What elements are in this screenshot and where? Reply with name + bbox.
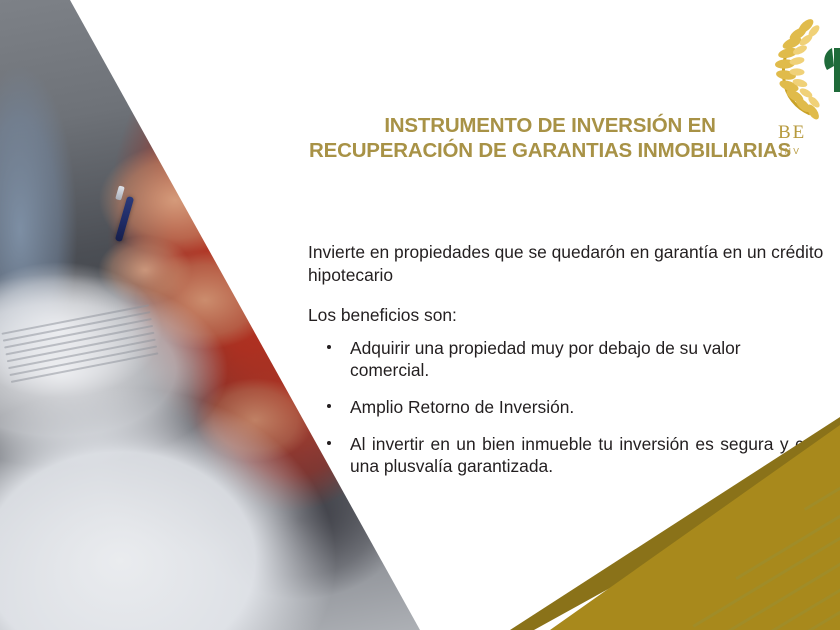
body-paragraph-1: Invierte en propiedades que se quedarón … — [308, 241, 824, 286]
list-item-label: Al invertir en un bien inmueble tu inver… — [350, 434, 823, 477]
list-item-label: Amplio Retorno de Inversión. — [350, 397, 574, 417]
decoration-stripe — [547, 605, 840, 630]
logo-tagline: INV — [780, 146, 801, 156]
slide-title: INSTRUMENTO DE INVERSIÓN EN RECUPERACIÓN… — [290, 113, 810, 163]
list-item: Amplio Retorno de Inversión. — [323, 396, 823, 419]
list-item: Adquirir una propiedad muy por debajo de… — [323, 337, 823, 382]
laurel-wreath-icon — [770, 14, 840, 122]
body-paragraph-2: Los beneficios son: — [308, 304, 824, 327]
title-line-2: RECUPERACIÓN DE GARANTIAS INMOBILIARIAS — [290, 138, 810, 163]
benefits-list: Adquirir una propiedad muy por debajo de… — [323, 337, 823, 478]
slide-body: Invierte en propiedades que se quedarón … — [308, 224, 824, 492]
list-item: Al invertir en un bien inmueble tu inver… — [323, 433, 823, 478]
bullet-dot-icon — [327, 441, 331, 445]
decoration-stripe — [636, 557, 840, 630]
decoration-stripe — [692, 531, 840, 627]
title-line-1: INSTRUMENTO DE INVERSIÓN EN — [290, 113, 810, 138]
list-item-label: Adquirir una propiedad muy por debajo de… — [350, 338, 741, 381]
decoration-stripe — [735, 509, 840, 580]
logo-wordmark: BE — [778, 122, 806, 144]
company-logo: BE INV — [770, 14, 840, 164]
decoration-stripe — [581, 583, 840, 630]
bullet-dot-icon — [327, 404, 331, 408]
presentation-slide: INSTRUMENTO DE INVERSIÓN EN RECUPERACIÓN… — [0, 0, 840, 630]
bullet-dot-icon — [327, 345, 331, 349]
green-mark-icon — [824, 44, 840, 92]
